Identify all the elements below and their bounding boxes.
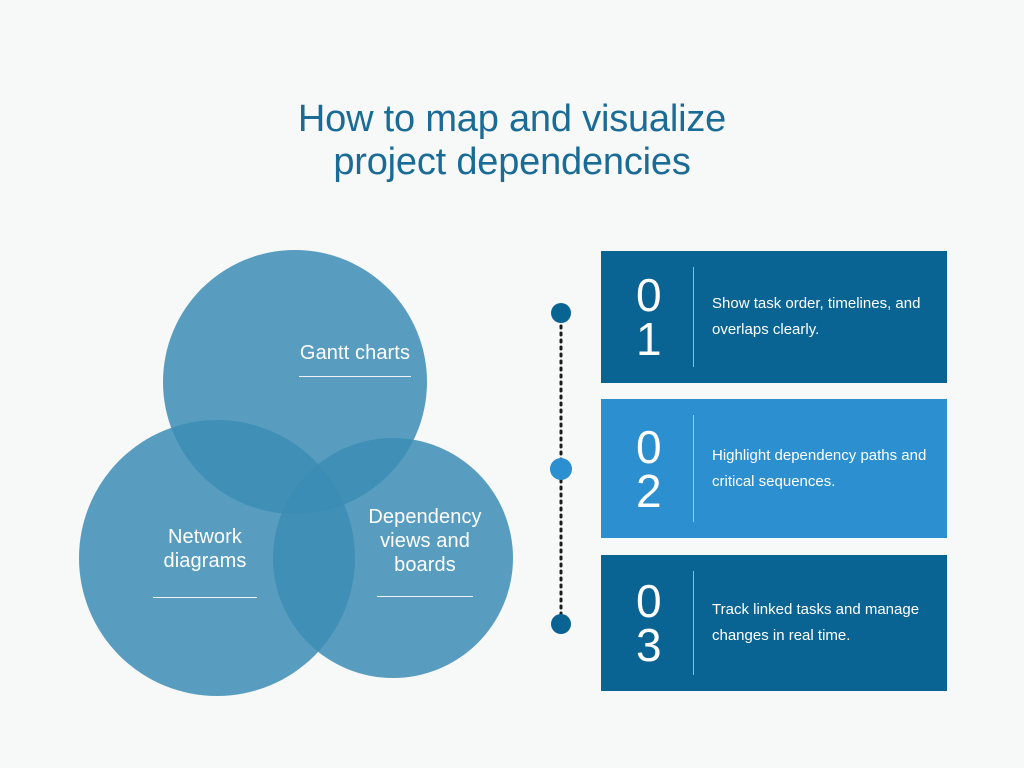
venn-label-dependency-views-line-3: boards xyxy=(330,553,520,577)
venn-label-underline xyxy=(153,597,257,598)
steps-list: 0 1 Show task order, timelines, and over… xyxy=(601,251,947,691)
step-number-digit-bottom: 1 xyxy=(605,317,693,361)
venn-label-dependency-views-line-2: views and xyxy=(330,529,520,553)
venn-label-gantt-charts: Gantt charts xyxy=(235,341,475,377)
connector-dot-1 xyxy=(551,303,571,323)
page-title-line-1: How to map and visualize xyxy=(0,98,1024,141)
step-number-02: 0 2 xyxy=(601,425,693,513)
step-card-01[interactable]: 0 1 Show task order, timelines, and over… xyxy=(601,251,947,383)
step-card-text-02: Highlight dependency paths and critical … xyxy=(694,443,947,495)
page-title: How to map and visualize project depende… xyxy=(0,98,1024,184)
venn-label-network-diagrams-line-1: Network xyxy=(115,525,295,549)
venn-label-underline xyxy=(299,376,411,377)
step-card-03[interactable]: 0 3 Track linked tasks and manage change… xyxy=(601,555,947,691)
venn-circles-graphic xyxy=(60,235,540,705)
connector-dot-2 xyxy=(550,458,572,480)
connector-line xyxy=(543,296,579,640)
step-number-digit-top: 0 xyxy=(605,273,693,317)
venn-label-network-diagrams-line-2: diagrams xyxy=(115,549,295,573)
connector-graphic xyxy=(543,296,579,640)
step-card-text-01: Show task order, timelines, and overlaps… xyxy=(694,291,947,343)
step-number-digit-top: 0 xyxy=(605,425,693,469)
step-number-digit-bottom: 3 xyxy=(605,623,693,667)
connector-dot-3 xyxy=(551,614,571,634)
venn-label-network-diagrams: Network diagrams xyxy=(115,525,295,598)
venn-label-dependency-views: Dependency views and boards xyxy=(330,505,520,597)
step-number-03: 0 3 xyxy=(601,579,693,667)
venn-label-gantt-charts-line-1: Gantt charts xyxy=(235,341,475,365)
page-title-line-2: project dependencies xyxy=(0,141,1024,184)
venn-diagram: Gantt charts Network diagrams Dependency… xyxy=(60,235,540,705)
step-number-digit-top: 0 xyxy=(605,579,693,623)
step-number-01: 0 1 xyxy=(601,273,693,361)
venn-label-underline xyxy=(377,596,473,597)
step-card-02[interactable]: 0 2 Highlight dependency paths and criti… xyxy=(601,399,947,538)
step-number-digit-bottom: 2 xyxy=(605,469,693,513)
step-card-text-03: Track linked tasks and manage changes in… xyxy=(694,597,947,649)
venn-label-dependency-views-line-1: Dependency xyxy=(330,505,520,529)
